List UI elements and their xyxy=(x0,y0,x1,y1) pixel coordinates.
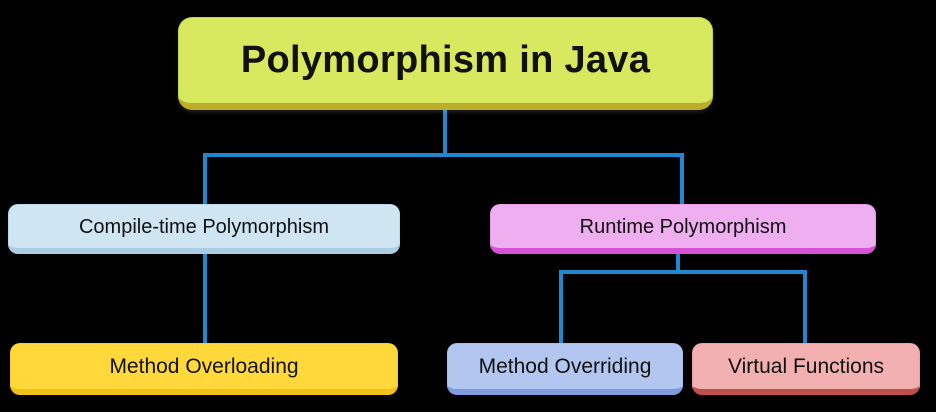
connector-to-virtual-functions xyxy=(803,270,807,346)
node-root-label: Polymorphism in Java xyxy=(241,40,650,82)
node-runtime-label: Runtime Polymorphism xyxy=(580,216,787,238)
node-method-overloading-label: Method Overloading xyxy=(109,355,298,378)
connector-level2-horizontal-bar xyxy=(559,270,807,274)
node-method-overloading[interactable]: Method Overloading xyxy=(10,343,398,395)
node-runtime-polymorphism[interactable]: Runtime Polymorphism xyxy=(490,204,876,254)
node-method-overriding[interactable]: Method Overriding xyxy=(447,343,683,395)
diagram-canvas: Polymorphism in Java Compile-time Polymo… xyxy=(0,0,936,412)
connector-to-runtime xyxy=(680,153,684,207)
connector-to-method-overriding xyxy=(559,270,563,346)
connector-compile-time-to-method-overloading xyxy=(203,250,207,346)
node-virtual-functions-label: Virtual Functions xyxy=(728,355,884,378)
connector-root-to-level1-stem xyxy=(443,109,447,157)
node-root-polymorphism-in-java[interactable]: Polymorphism in Java xyxy=(178,17,713,110)
node-compile-time-polymorphism[interactable]: Compile-time Polymorphism xyxy=(8,204,400,254)
connector-to-compile-time xyxy=(203,153,207,207)
node-virtual-functions[interactable]: Virtual Functions xyxy=(692,343,920,395)
node-method-overriding-label: Method Overriding xyxy=(479,355,652,378)
node-compile-time-label: Compile-time Polymorphism xyxy=(79,216,329,238)
connector-level1-horizontal-bar xyxy=(203,153,684,157)
